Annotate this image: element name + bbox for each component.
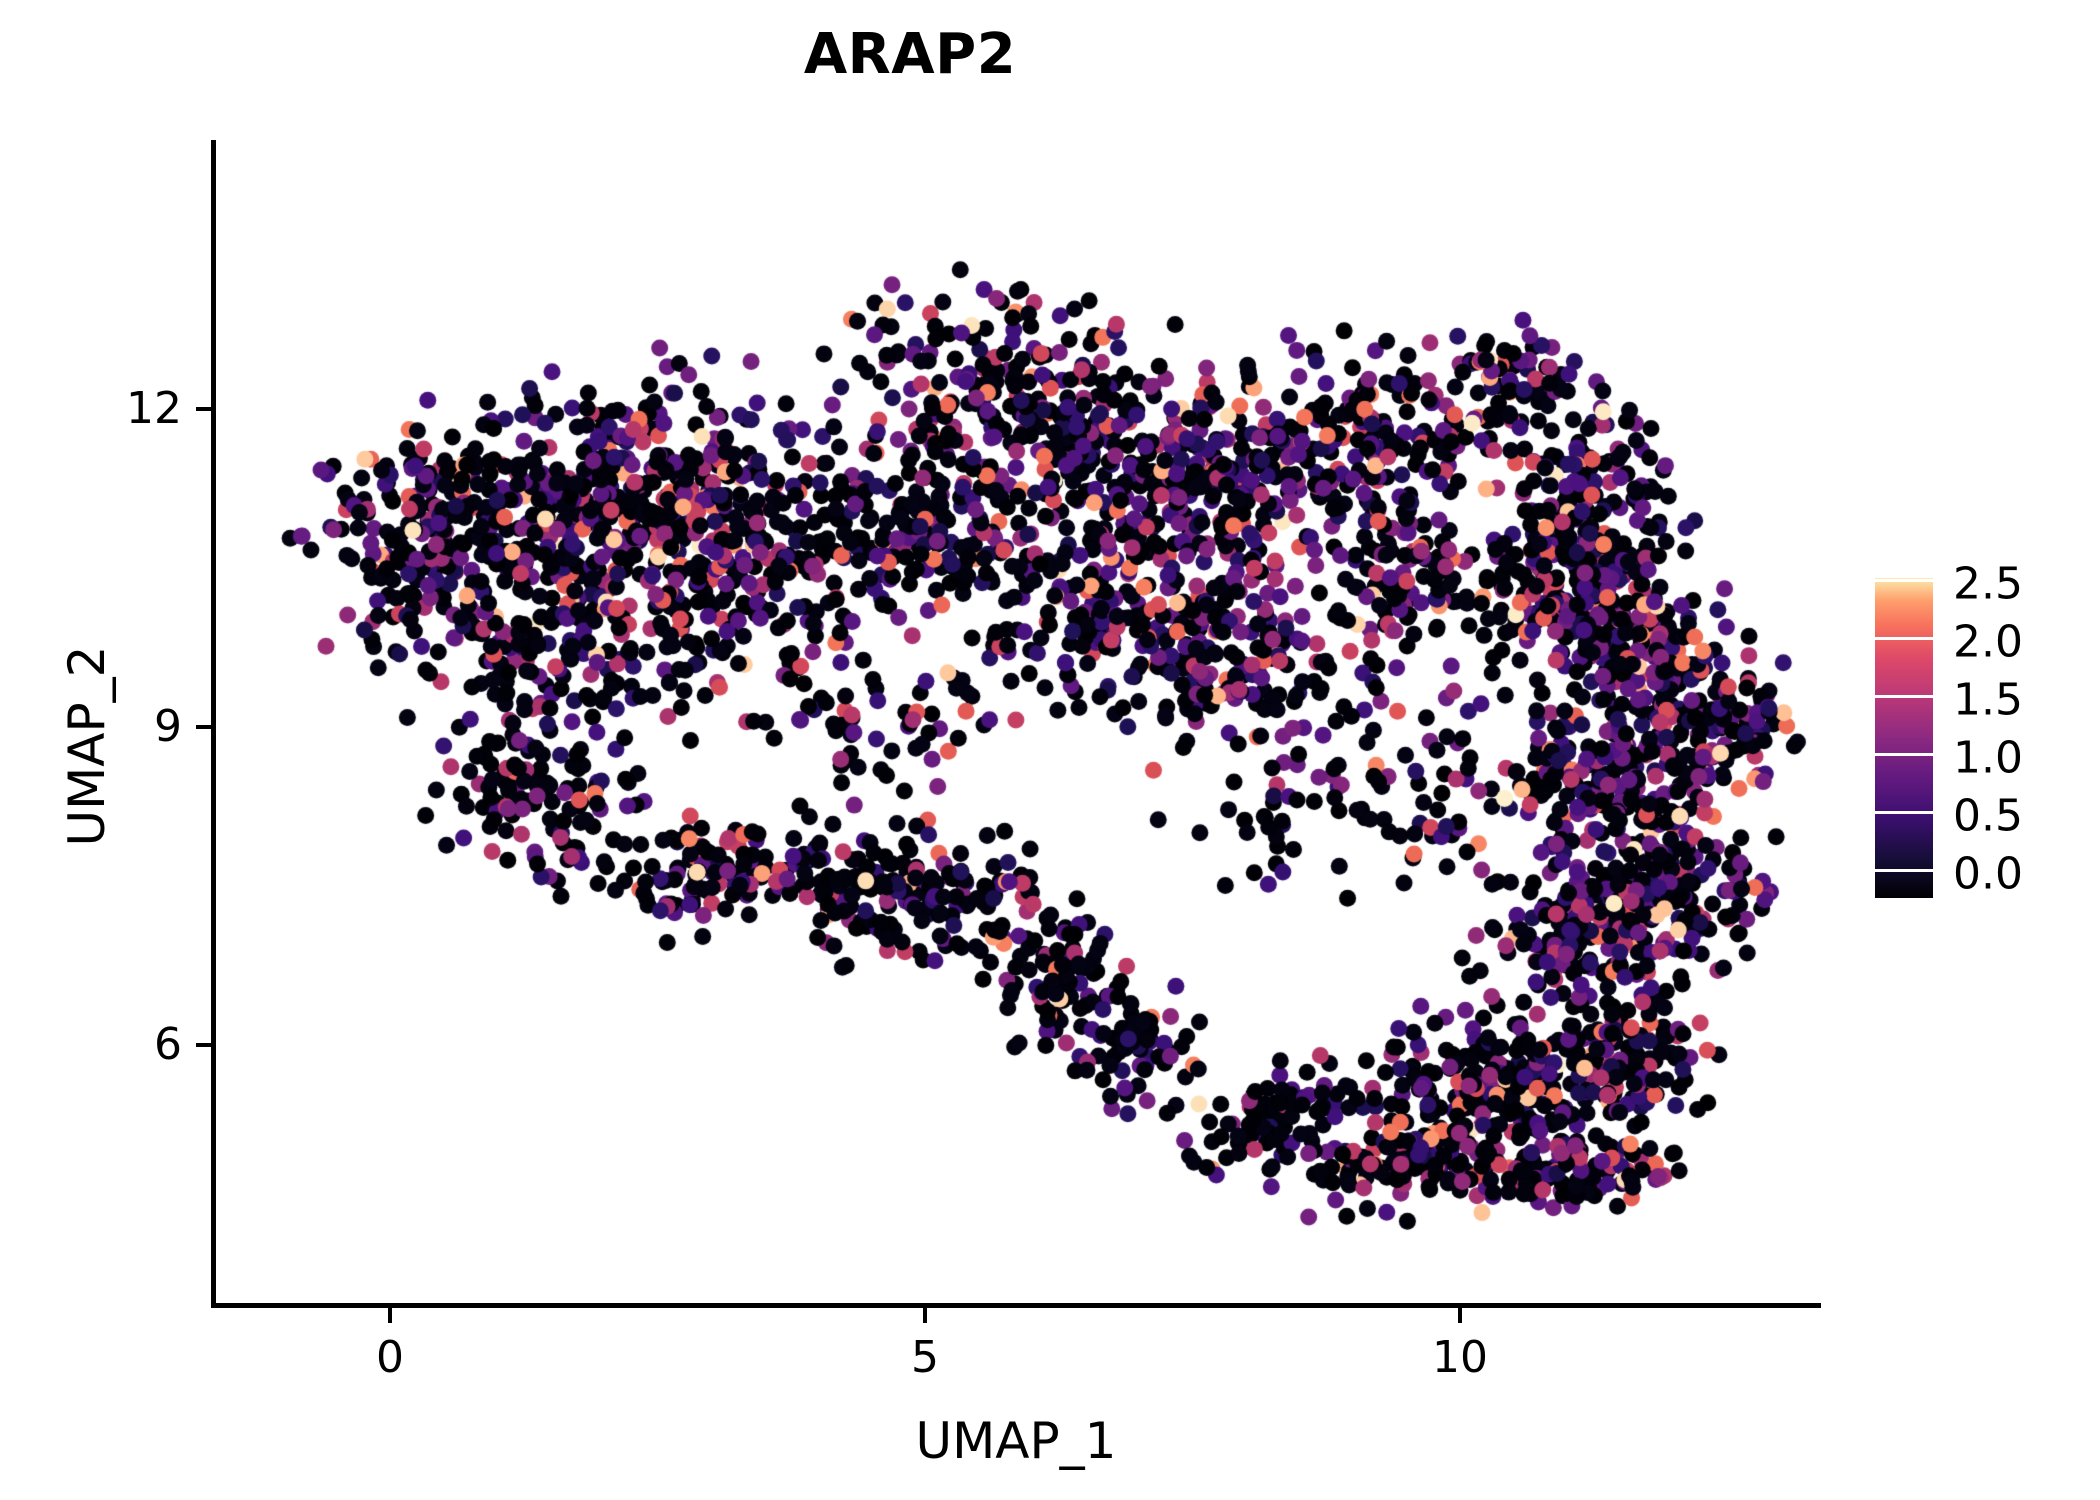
colorbar-tick-0.0: [1875, 869, 1933, 872]
colorbar-tick-1.5: [1875, 695, 1933, 698]
colorbar-label-0.5: 0.5: [1953, 791, 2023, 842]
scatter-plot-points: [0, 0, 2100, 1500]
colorbar-tick-2.0: [1875, 637, 1933, 640]
colorbar-tick-1.0: [1875, 753, 1933, 756]
colorbar-tick-0.5: [1875, 811, 1933, 814]
figure-canvas: ARAP2 12 9 6 0 5 10 UMAP_1 UMAP_2 2.5 2.…: [0, 0, 2100, 1500]
colorbar-label-0.0: 0.0: [1953, 849, 2023, 900]
colorbar-tick-2.5: [1875, 579, 1933, 582]
colorbar-label-1.5: 1.5: [1953, 675, 2023, 726]
colorbar-label-2.5: 2.5: [1953, 559, 2023, 610]
colorbar-label-1.0: 1.0: [1953, 733, 2023, 784]
colorbar-gradient: [1875, 578, 1933, 898]
colorbar-label-2.0: 2.0: [1953, 617, 2023, 668]
